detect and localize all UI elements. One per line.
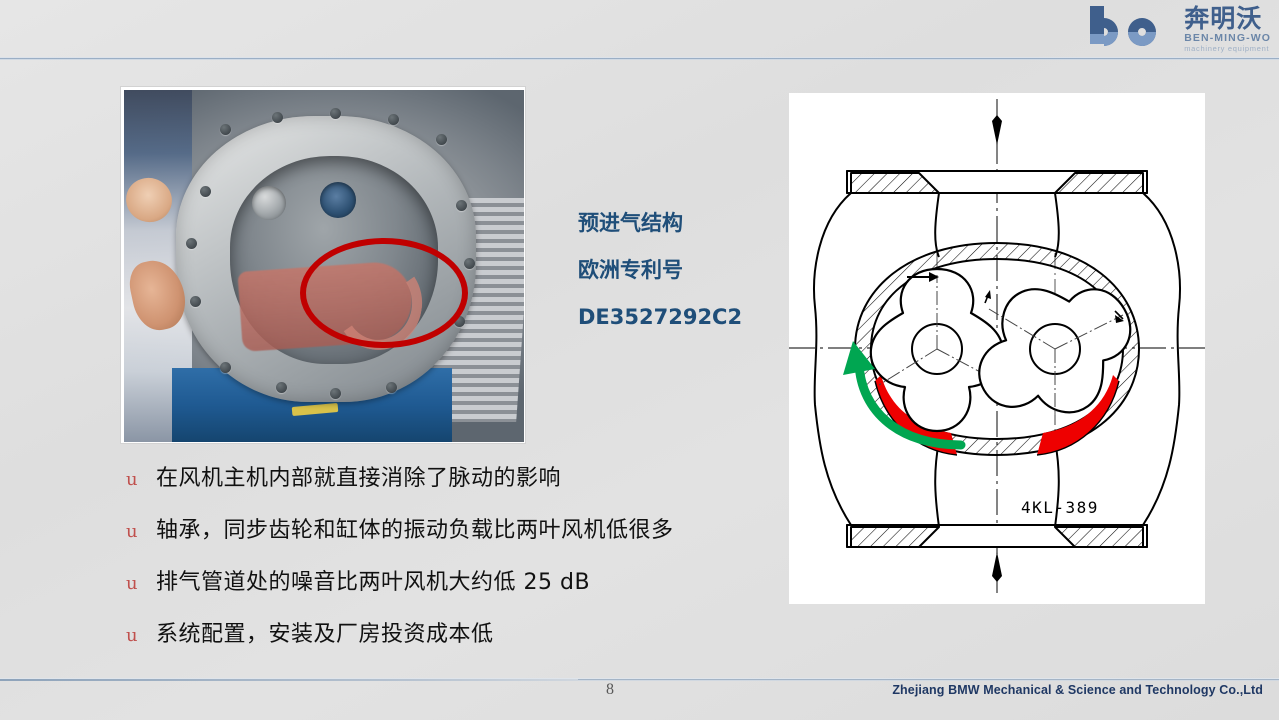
photo-bolt-hole	[436, 134, 447, 145]
caption-line-structure: 预进气结构	[578, 200, 808, 247]
caption-line-patent-label: 欧洲专利号	[578, 247, 808, 294]
casing-right-outer-wall	[1143, 193, 1180, 525]
photo-bolt-hole	[276, 382, 287, 393]
photo-bolt-hole	[330, 108, 341, 119]
bullet-text: 轴承，同步齿轮和缸体的振动负载比两叶风机低很多	[156, 512, 674, 544]
bullet-marker-icon: u	[118, 573, 156, 594]
brand-logo: 奔明沃 BEN-MING-WO machinery equipment	[1041, 2, 1271, 56]
footer-divider-rule-left	[0, 679, 578, 681]
outlet-flow-arrow	[992, 552, 1002, 582]
list-item: u 轴承，同步齿轮和缸体的振动负载比两叶风机低很多	[118, 512, 778, 564]
logo-chinese-name: 奔明沃	[1184, 6, 1262, 31]
photo-bolt-hole	[464, 258, 475, 269]
bullet-marker-icon: u	[118, 625, 156, 646]
bullet-marker-icon: u	[118, 521, 156, 542]
list-item: u 系统配置，安装及厂房投资成本低	[118, 616, 778, 668]
feature-bullet-list: u 在风机主机内部就直接消除了脉动的影响 u 轴承，同步齿轮和缸体的振动负载比两…	[118, 460, 778, 668]
caption-line-patent-number: DE3527292C2	[578, 294, 808, 341]
logo-tagline: machinery equipment	[1184, 44, 1269, 53]
photo-bolt-hole	[456, 200, 467, 211]
red-ellipse-highlight	[300, 238, 468, 348]
diagram-drawing: 4KL-389	[789, 93, 1205, 604]
presentation-slide: 奔明沃 BEN-MING-WO machinery equipment	[0, 0, 1279, 720]
photo-bolt-hole	[186, 238, 197, 249]
header-divider-rule	[0, 57, 1279, 60]
part-number-label: 4KL-389	[1021, 498, 1099, 517]
footer-company-name: Zhejiang BMW Mechanical & Science and Te…	[892, 683, 1263, 697]
photo-bolt-hole	[220, 124, 231, 135]
photo-bolt-hole	[200, 186, 211, 197]
photo-bolt-hole	[272, 112, 283, 123]
photo-image	[124, 90, 524, 442]
page-number: 8	[595, 681, 625, 699]
list-item: u 排气管道处的噪音比两叶风机大约低 25 dB	[118, 564, 778, 616]
casing-left-outer-wall	[814, 193, 851, 525]
list-item: u 在风机主机内部就直接消除了脉动的影响	[118, 460, 778, 512]
photo-shaft-bore-left	[252, 186, 286, 220]
photo-bolt-hole	[190, 296, 201, 307]
blower-casing-photo	[120, 86, 526, 444]
inlet-flow-arrow	[992, 115, 1002, 145]
photo-shaft-bore-right	[320, 182, 356, 218]
blower-cross-section-diagram: 4KL-389	[789, 93, 1205, 604]
bullet-text: 系统配置，安装及厂房投资成本低	[156, 616, 494, 648]
bullet-text: 排气管道处的噪音比两叶风机大约低 25 dB	[156, 564, 590, 596]
photo-bolt-hole	[220, 362, 231, 373]
photo-bolt-hole	[386, 382, 397, 393]
bullet-text: 在风机主机内部就直接消除了脉动的影响	[156, 460, 561, 492]
rotor-right-direction-arrow	[985, 290, 991, 303]
logo-wordmark: 奔明沃 BEN-MING-WO machinery equipment	[1184, 4, 1271, 54]
patent-caption: 预进气结构 欧洲专利号 DE3527292C2	[578, 200, 808, 341]
bullet-marker-icon: u	[118, 469, 156, 490]
photo-bolt-hole	[388, 114, 399, 125]
logo-english-name: BEN-MING-WO	[1184, 32, 1271, 44]
photo-bolt-hole	[330, 388, 341, 399]
bo-monogram-logo-icon	[1084, 4, 1180, 54]
